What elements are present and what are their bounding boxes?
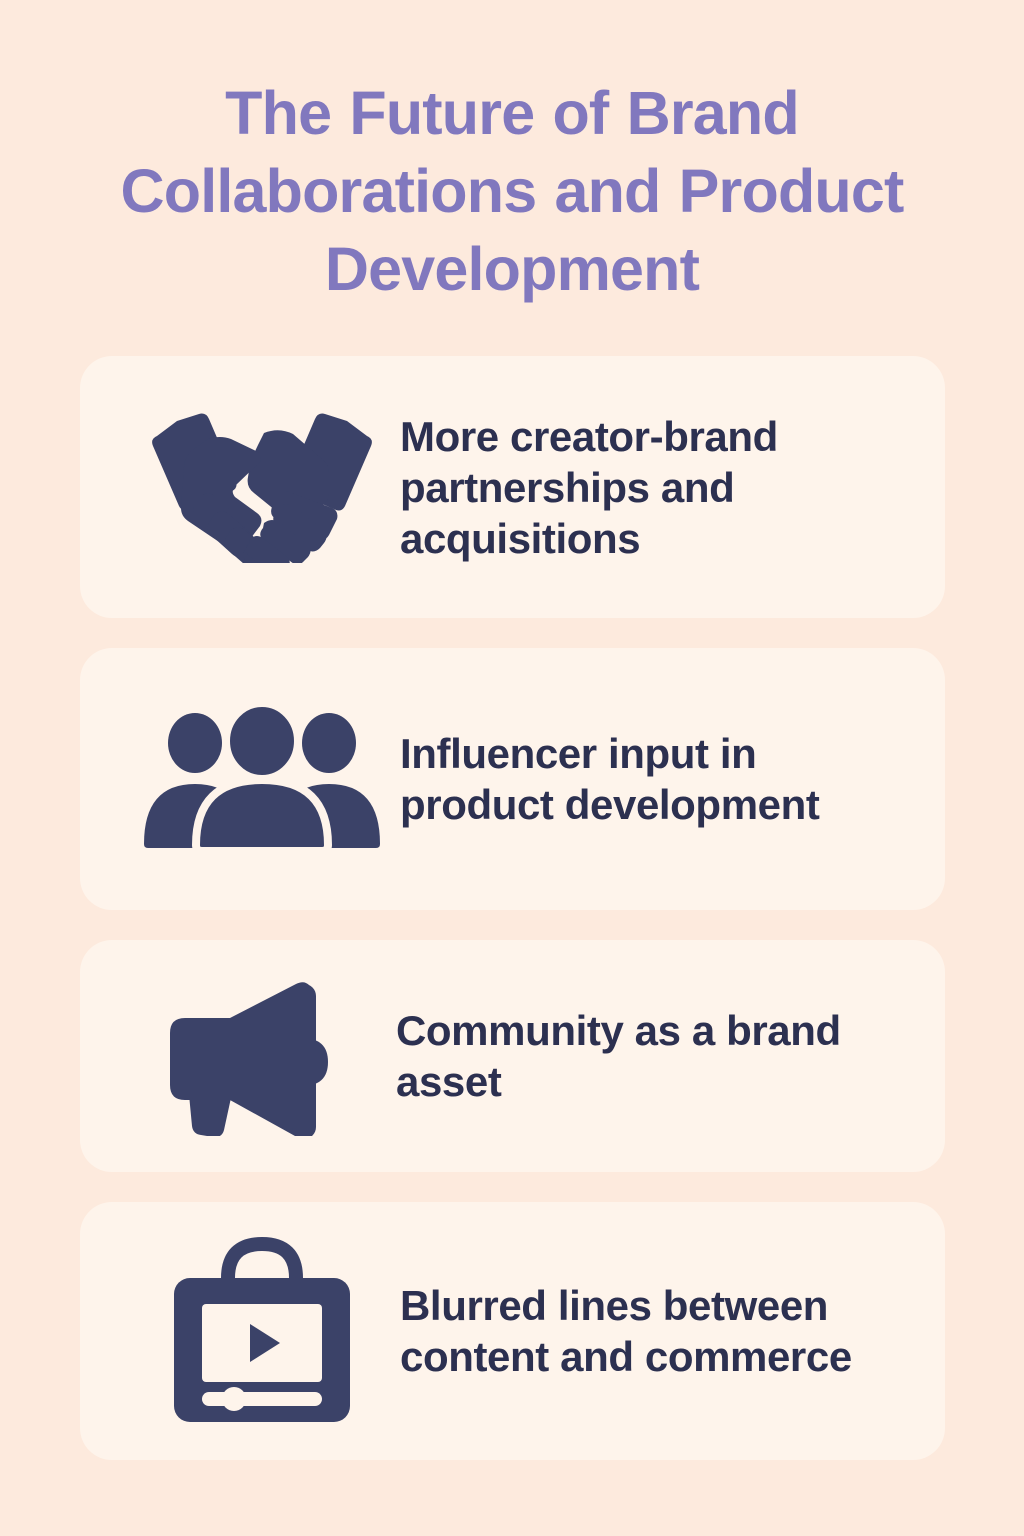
- list-item: Community as a brand asset: [80, 940, 945, 1172]
- page-title: The Future of Brand Collaborations and P…: [62, 74, 962, 308]
- list-item-label: More creator-brand partnerships and acqu…: [396, 411, 917, 564]
- megaphone-icon: [128, 976, 396, 1136]
- handshake-icon: [128, 411, 396, 563]
- list-item-label: Community as a brand asset: [396, 1005, 917, 1107]
- list-item: More creator-brand partnerships and acqu…: [80, 356, 945, 618]
- people-group-icon: [128, 707, 396, 852]
- infographic-poster: The Future of Brand Collaborations and P…: [0, 0, 1024, 1536]
- title-block: The Future of Brand Collaborations and P…: [62, 74, 962, 308]
- list-item-label: Blurred lines between content and commer…: [396, 1280, 917, 1382]
- shopping-bag-video-icon: [128, 1232, 396, 1430]
- list-item-label: Influencer input in product development: [396, 728, 917, 830]
- card-list: More creator-brand partnerships and acqu…: [80, 356, 945, 1460]
- list-item: Influencer input in product development: [80, 648, 945, 910]
- list-item: Blurred lines between content and commer…: [80, 1202, 945, 1460]
